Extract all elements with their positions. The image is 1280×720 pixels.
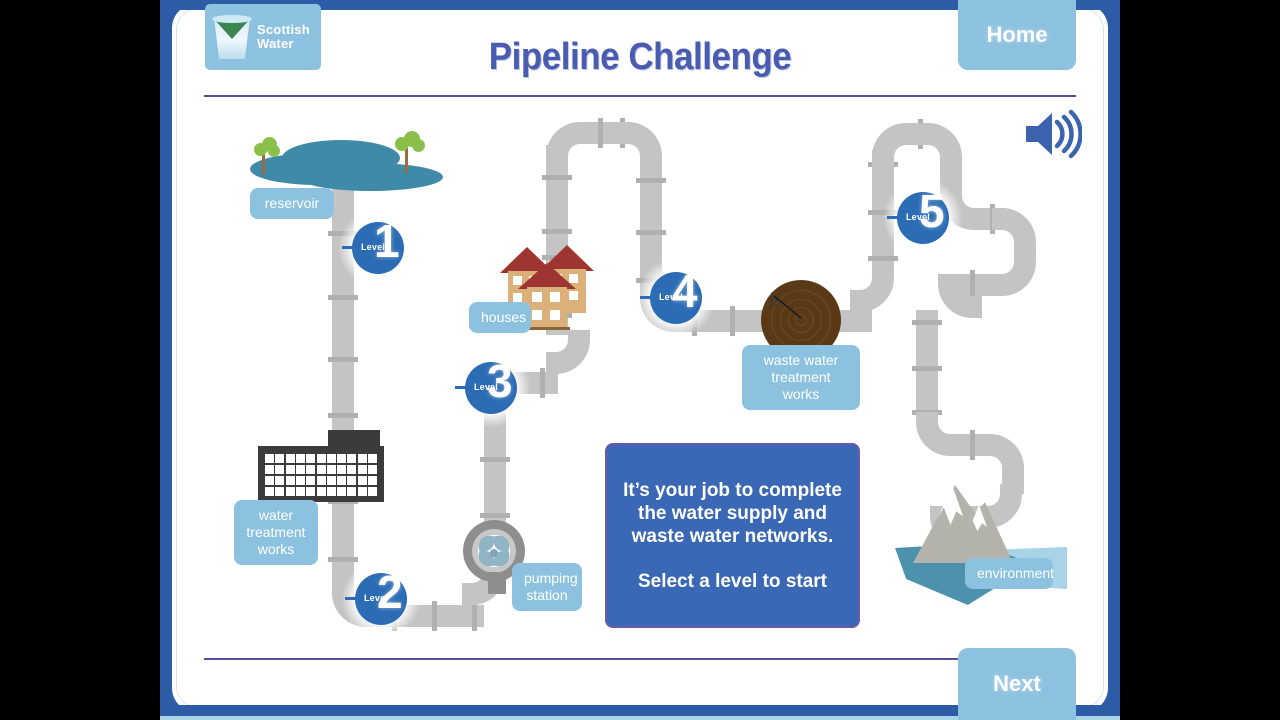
wtw-window	[337, 487, 346, 496]
app-screen: Scottish Water Pipeline Challenge Home N…	[0, 0, 1280, 720]
wtw-window	[317, 487, 326, 496]
wtw-window	[317, 476, 326, 485]
next-button[interactable]: Next	[958, 648, 1076, 720]
water-glass-icon	[211, 13, 253, 61]
level-badge-number: 1	[374, 218, 400, 264]
wtw-window	[296, 454, 305, 463]
wtw-window	[368, 454, 377, 463]
wtw-window	[265, 487, 274, 496]
wtw-window	[306, 476, 315, 485]
label-waste-water-treatment-works: waste water treatment works	[742, 345, 860, 410]
wtw-window	[368, 487, 377, 496]
wtw-window	[347, 487, 356, 496]
wtw-window	[265, 454, 274, 463]
wtw-window	[358, 465, 367, 474]
instructions-line-2: Select a level to start	[638, 570, 827, 593]
instructions-line-1: It’s your job to complete the water supp…	[619, 479, 846, 548]
wtw-window	[306, 454, 315, 463]
level-badge-5[interactable]: Level5	[897, 192, 949, 244]
label-water-treatment-works: water treatment works	[234, 500, 318, 565]
level-badge-1[interactable]: Level1	[352, 222, 404, 274]
level-badge-number: 3	[487, 358, 513, 404]
wtw-window	[265, 476, 274, 485]
wtw-window	[327, 465, 336, 474]
label-environment: environment	[965, 558, 1053, 589]
page-title: Pipeline Challenge	[401, 36, 879, 79]
wtw-window	[337, 454, 346, 463]
header-divider	[204, 95, 1076, 97]
wtw-window	[306, 487, 315, 496]
wtw-window	[358, 454, 367, 463]
label-reservoir: reservoir	[250, 188, 334, 219]
level-badge-2[interactable]: Level2	[355, 573, 407, 625]
wtw-window	[358, 476, 367, 485]
wtw-window	[306, 465, 315, 474]
scraper-arm-icon	[771, 292, 803, 320]
footer-divider	[204, 658, 1076, 660]
speaker-volume-icon[interactable]	[1022, 108, 1082, 160]
wtw-window	[347, 454, 356, 463]
wtw-window	[327, 454, 336, 463]
level-badge-3[interactable]: Level3	[465, 362, 517, 414]
wtw-window	[286, 487, 295, 496]
wtw-window	[337, 465, 346, 474]
logo-text: Scottish Water	[257, 23, 310, 51]
wtw-window	[347, 476, 356, 485]
level-badge-number: 2	[377, 569, 403, 615]
wtw-window	[275, 465, 284, 474]
pipe-level3-horizontal	[526, 372, 558, 394]
logo-line-1: Scottish	[257, 23, 310, 37]
water-treatment-works-illustration	[258, 430, 384, 500]
home-button[interactable]: Home	[958, 0, 1076, 70]
wtw-window	[275, 476, 284, 485]
logo-line-2: Water	[257, 37, 310, 51]
pump-outlet-neck	[488, 572, 506, 594]
pipe-wwtw-out	[838, 310, 872, 332]
instructions-box: It’s your job to complete the water supp…	[605, 443, 860, 628]
wtw-window	[368, 465, 377, 474]
label-houses: houses	[469, 302, 531, 333]
wtw-window	[317, 465, 326, 474]
wtw-window	[368, 476, 377, 485]
pipe-right-down-long	[916, 310, 938, 420]
wtw-window	[296, 476, 305, 485]
wtw-window	[347, 465, 356, 474]
scottish-water-logo: Scottish Water	[205, 4, 321, 70]
level-badge-4[interactable]: Level4	[650, 272, 702, 324]
wtw-window	[286, 454, 295, 463]
wtw-window	[327, 487, 336, 496]
wtw-window	[296, 487, 305, 496]
wtw-window	[296, 465, 305, 474]
wtw-window	[265, 465, 274, 474]
wtw-window	[275, 454, 284, 463]
level-badge-number: 5	[919, 188, 945, 234]
wtw-window	[358, 487, 367, 496]
label-pumping-station: pumping station	[512, 563, 582, 611]
wtw-window	[317, 454, 326, 463]
level-badge-number: 4	[672, 268, 698, 314]
wtw-window	[286, 476, 295, 485]
wtw-window	[275, 487, 284, 496]
wtw-window	[327, 476, 336, 485]
wtw-window	[337, 476, 346, 485]
wtw-window	[286, 465, 295, 474]
